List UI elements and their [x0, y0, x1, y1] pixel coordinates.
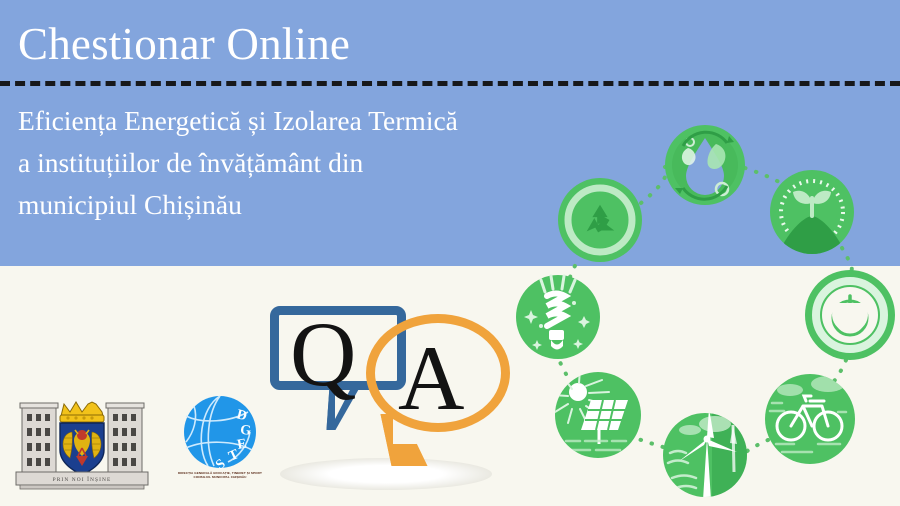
power-button-icon [805, 270, 895, 360]
poster-canvas: Chestionar Online Eficiența Energetică ș… [0, 0, 900, 506]
chisinau-coat-of-arms: PRIN NOI ÎNȘINE [14, 392, 150, 492]
coa-motto-text: PRIN NOI ÎNȘINE [53, 475, 112, 483]
coa-tower-left [20, 403, 58, 472]
dgets-caption-line-2: CONSILIUL MUNICIPAL CHIȘINĂU [156, 475, 284, 479]
answer-letter: A [398, 332, 464, 424]
light-bulb-icon [516, 275, 600, 359]
bicycle-icon [765, 374, 855, 464]
qa-shadow [280, 458, 492, 490]
qa-graphic: Q A [262, 290, 512, 506]
dgets-caption: DIRECȚIA GENERALĂ EDUCAȚIE, TINERET ȘI S… [156, 471, 284, 480]
coa-shield [60, 423, 104, 475]
question-letter: Q [290, 308, 356, 400]
coa-crown [60, 402, 104, 422]
plant-sprout-icon [770, 170, 854, 254]
coa-tower-right [106, 403, 144, 472]
solar-panel-icon [554, 370, 641, 458]
water-drop-icon [665, 125, 745, 205]
wind-turbine-icon [663, 408, 747, 500]
recycle-icon [558, 178, 642, 262]
coa-motto-banner: PRIN NOI ÎNȘINE [16, 472, 148, 489]
